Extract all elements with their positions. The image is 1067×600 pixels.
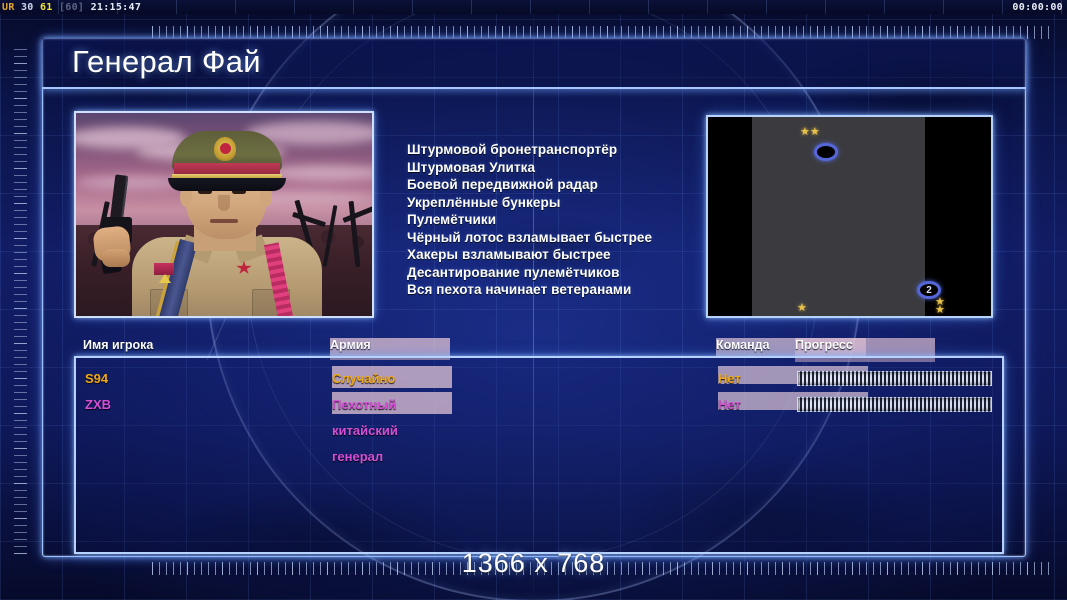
progress-bar — [797, 397, 992, 412]
player-table: S94 Случайно Нет ZXB Пехотный китайский … — [74, 356, 1004, 554]
medal-star-icon — [159, 274, 171, 283]
minimap-star-icon: ★ — [935, 305, 945, 316]
status-value-3: [60] — [59, 2, 84, 13]
minimap-start-position-1[interactable] — [814, 143, 838, 161]
ability-item: Пулемётчики — [407, 211, 652, 229]
minimap-terrain — [752, 117, 925, 316]
ur-label: UR — [2, 2, 15, 13]
ruler-left — [14, 46, 27, 554]
cell-player-name: ZXB — [85, 392, 111, 418]
military-cap-brim — [168, 178, 286, 191]
cap-badge-center-icon — [220, 143, 231, 154]
ability-item: Укреплённые бункеры — [407, 194, 652, 212]
player-table-header: Имя игрока Армия Команда Прогресс — [74, 338, 1004, 356]
table-row[interactable]: S94 Случайно Нет — [76, 366, 1002, 392]
minimap-star-icon: ★★ — [800, 127, 820, 138]
column-header-player: Имя игрока — [83, 338, 153, 352]
status-value-2: 61 — [40, 2, 53, 13]
general-portrait — [74, 111, 374, 318]
progress-bar — [797, 371, 992, 386]
status-timer: 00:00:00 — [1012, 2, 1067, 13]
table-row[interactable]: ZXB Пехотный китайский генерал Нет — [76, 392, 1002, 418]
ability-item: Вся пехота начинает ветеранами — [407, 281, 652, 299]
ability-list: Штурмовой бронетранспортёр Штурмовая Ули… — [407, 141, 652, 299]
cell-player-name: S94 — [85, 366, 108, 392]
ability-item: Чёрный лотос взламывает быстрее — [407, 229, 652, 247]
resolution-label: 1366 x 768 — [0, 548, 1067, 579]
ability-item: Боевой передвижной радар — [407, 176, 652, 194]
status-value-1: 30 — [21, 2, 34, 13]
portrait-fingers — [102, 249, 130, 267]
minimap-star-icon: ★ — [797, 303, 807, 314]
cell-army: Случайно — [332, 366, 452, 388]
portrait-nose — [218, 195, 230, 211]
ability-item: Хакеры взламывают быстрее — [407, 246, 652, 264]
ability-item: Штурмовая Улитка — [407, 159, 652, 177]
ability-item: Десантирование пулемётчиков — [407, 264, 652, 282]
minimap-position-label — [817, 146, 835, 158]
cell-army: Пехотный китайский генерал — [332, 392, 452, 414]
game-screen: UR 30 61 [60] 21:15:47 00:00:00 Генерал … — [0, 0, 1067, 600]
ability-item: Штурмовой бронетранспортёр — [407, 141, 652, 159]
portrait-mouth — [210, 219, 238, 223]
portrait-artwork — [76, 113, 372, 316]
minimap-position-label: 2 — [920, 284, 938, 296]
page-title: Генерал Фай — [72, 44, 261, 80]
status-bar: UR 30 61 [60] 21:15:47 00:00:00 — [0, 0, 1067, 14]
status-clock: 21:15:47 — [91, 2, 142, 13]
status-bar-left: UR 30 61 [60] 21:15:47 — [0, 2, 141, 13]
minimap[interactable]: ★★ ★ ★ ★ 2 — [706, 115, 993, 318]
status-bar-ticks — [0, 0, 1067, 14]
minimap-start-position-2[interactable]: 2 — [917, 281, 941, 299]
